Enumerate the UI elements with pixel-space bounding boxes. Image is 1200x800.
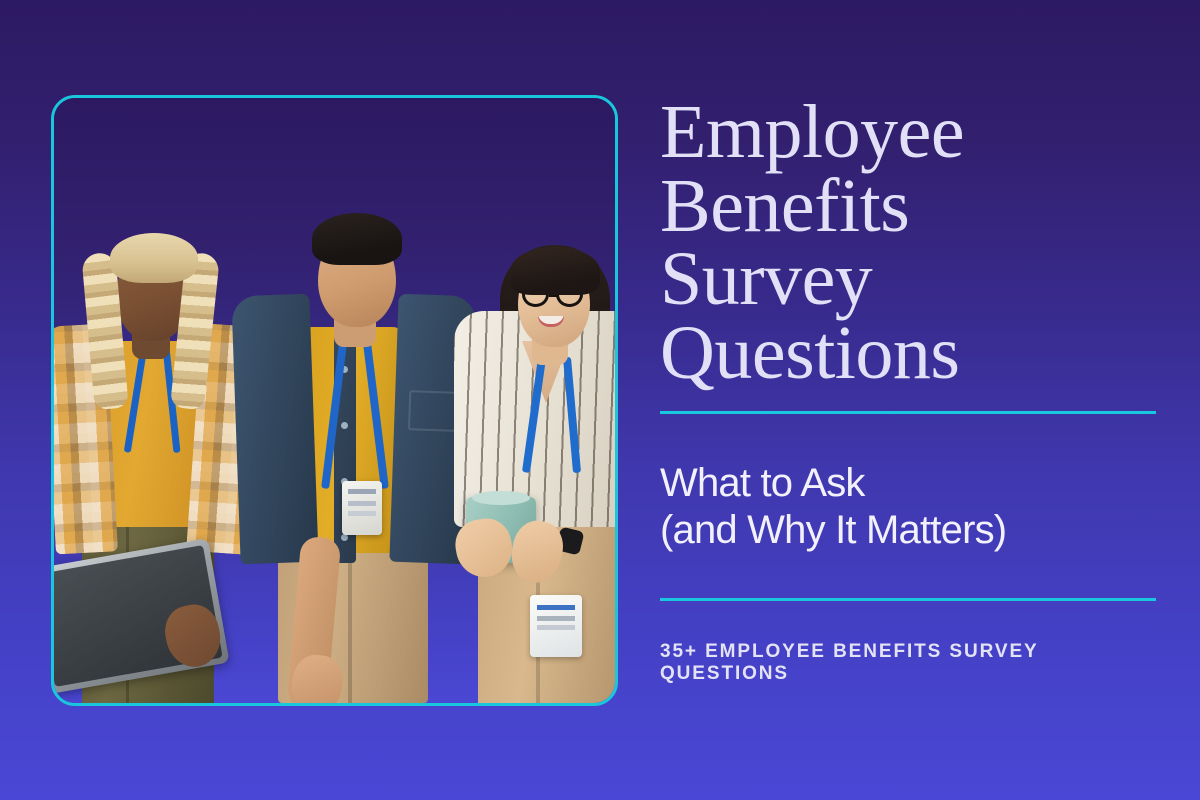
- kicker-text: 35+ EMPLOYEE BENEFITS SURVEY QUESTIONS: [660, 641, 1156, 685]
- title-line-4: Questions: [660, 317, 1156, 391]
- page-title: Employee Benefits Survey Questions: [660, 96, 1156, 391]
- hair: [312, 213, 402, 265]
- subtitle-line-1: What to Ask: [660, 460, 1156, 507]
- divider-bottom: [660, 598, 1156, 601]
- person-employee-right: [438, 173, 618, 703]
- hair: [510, 247, 600, 295]
- page-subtitle: What to Ask (and Why It Matters): [660, 460, 1156, 554]
- title-line-3: Survey: [660, 243, 1156, 317]
- id-badge: [342, 481, 382, 535]
- title-line-1: Employee: [660, 96, 1156, 170]
- divider-top: [660, 411, 1156, 414]
- team-photo: [54, 98, 615, 703]
- shirt-button: [341, 422, 348, 429]
- subtitle-line-2: (and Why It Matters): [660, 507, 1156, 554]
- poster-canvas: Employee Benefits Survey Questions What …: [0, 0, 1200, 800]
- photo-frame: [51, 95, 618, 706]
- id-badge: [530, 595, 582, 657]
- denim-shirt-left: [231, 294, 318, 565]
- shirt-button: [341, 534, 348, 541]
- hair: [110, 233, 198, 283]
- text-column: Employee Benefits Survey Questions What …: [660, 96, 1156, 685]
- title-line-2: Benefits: [660, 170, 1156, 244]
